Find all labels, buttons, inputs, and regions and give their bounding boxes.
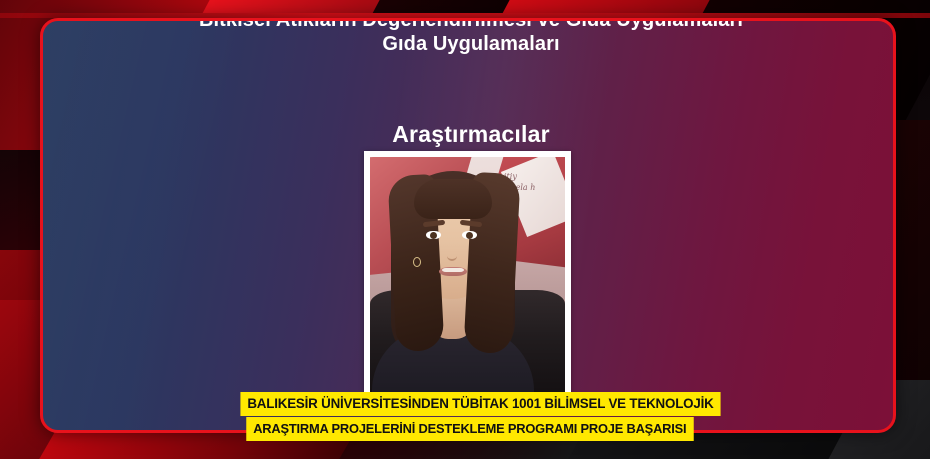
photo-subject-nose xyxy=(447,245,457,261)
photo-subject-fringe xyxy=(414,179,492,219)
photo-subject-eye-left xyxy=(426,231,441,239)
card-title-cropped: Bitkisel Atıkların Değerlendirilmesi ve … xyxy=(43,18,896,32)
photo-subject-eye-right xyxy=(462,231,477,239)
researcher-photo: itiyewela hsule xyxy=(370,157,565,395)
photo-subject-teeth xyxy=(442,268,464,272)
caption-line-2-wrap: ARAŞTIRMA PROJELERİNİ DESTEKLEME PROGRAM… xyxy=(238,417,702,441)
screenshot-stage: Bitkisel Atıkların Değerlendirilmesi ve … xyxy=(0,0,930,459)
news-caption: BALIKESİR ÜNİVERSİTESİNDEN TÜBİTAK 1001 … xyxy=(238,392,702,441)
section-heading-researchers: Araştırmacılar xyxy=(43,121,896,148)
caption-line-2: ARAŞTIRMA PROJELERİNİ DESTEKLEME PROGRAM… xyxy=(246,417,693,441)
researcher-photo-frame: itiyewela hsule xyxy=(364,151,571,401)
caption-line-1: BALIKESİR ÜNİVERSİTESİNDEN TÜBİTAK 1001 … xyxy=(240,392,720,416)
caption-line-1-wrap: BALIKESİR ÜNİVERSİTESİNDEN TÜBİTAK 1001 … xyxy=(238,392,702,416)
card-title-secondline: Gıda Uygulamaları xyxy=(43,33,896,56)
photo-subject-earring xyxy=(413,257,421,267)
content-card: Bitkisel Atıkların Değerlendirilmesi ve … xyxy=(40,18,896,433)
